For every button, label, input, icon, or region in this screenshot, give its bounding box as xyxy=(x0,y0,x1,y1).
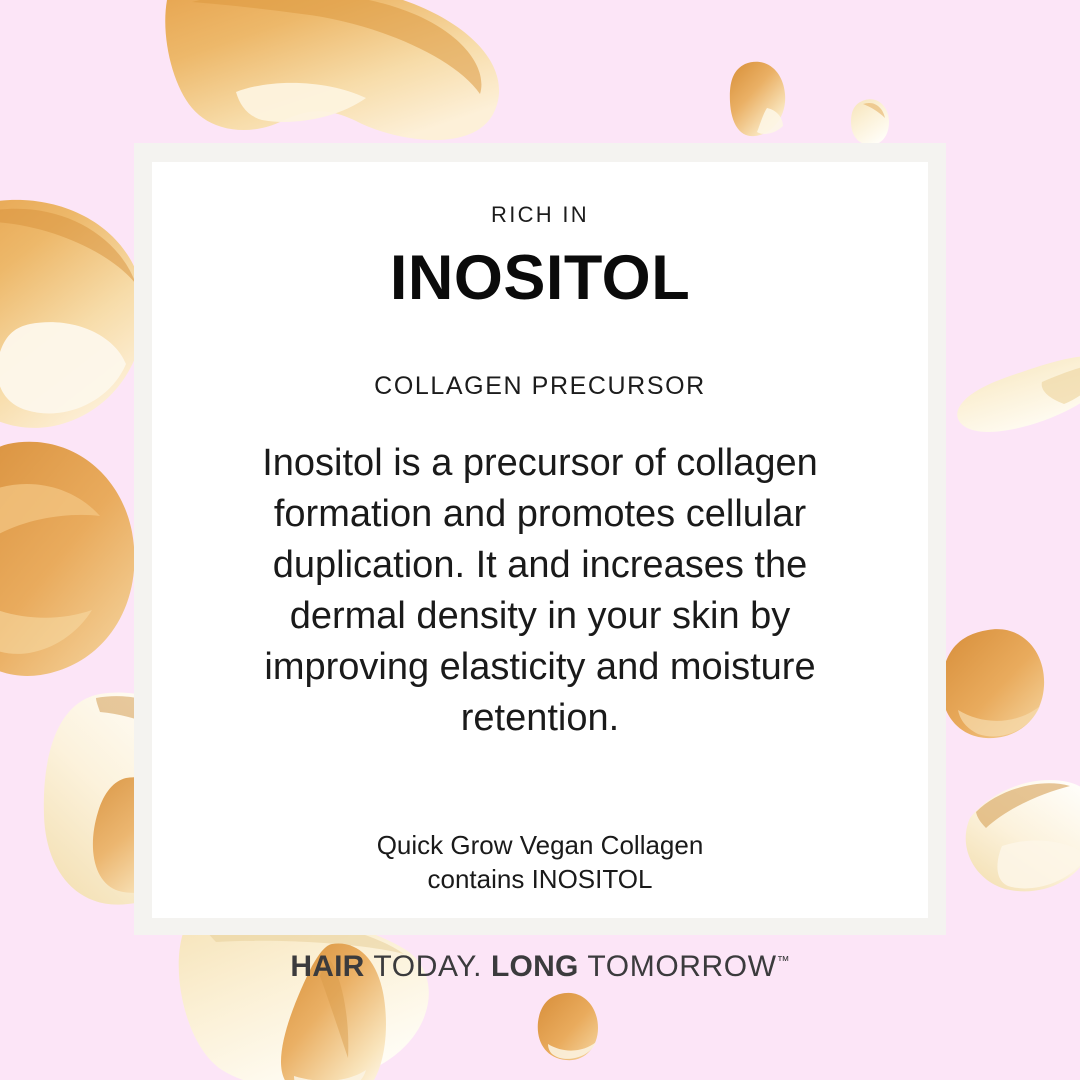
eyebrow-label: RICH IN xyxy=(491,204,589,226)
tagline-word-long: LONG xyxy=(491,950,578,983)
brand-tagline: HAIR TODAY. LONG TOMORROW™ xyxy=(290,952,789,982)
page-title: INOSITOL xyxy=(390,247,690,310)
subtitle-label: COLLAGEN PRECURSOR xyxy=(374,374,706,399)
promo-graphic: RICH IN INOSITOL COLLAGEN PRECURSOR Inos… xyxy=(0,0,1080,1080)
tagline-word-today: TODAY. xyxy=(373,950,482,983)
body-paragraph: Inositol is a precursor of collagen form… xyxy=(240,438,840,744)
product-note-line-1: Quick Grow Vegan Collagen xyxy=(260,828,820,862)
card-surface: RICH IN INOSITOL COLLAGEN PRECURSOR Inos… xyxy=(152,162,928,918)
product-note-line-2: contains INOSITOL xyxy=(260,862,820,896)
tagline-word-tomorrow: TOMORROW xyxy=(587,950,776,983)
tagline-word-hair: HAIR xyxy=(290,950,364,983)
trademark-symbol: ™ xyxy=(777,953,790,968)
product-note: Quick Grow Vegan Collagen contains INOSI… xyxy=(260,828,820,896)
